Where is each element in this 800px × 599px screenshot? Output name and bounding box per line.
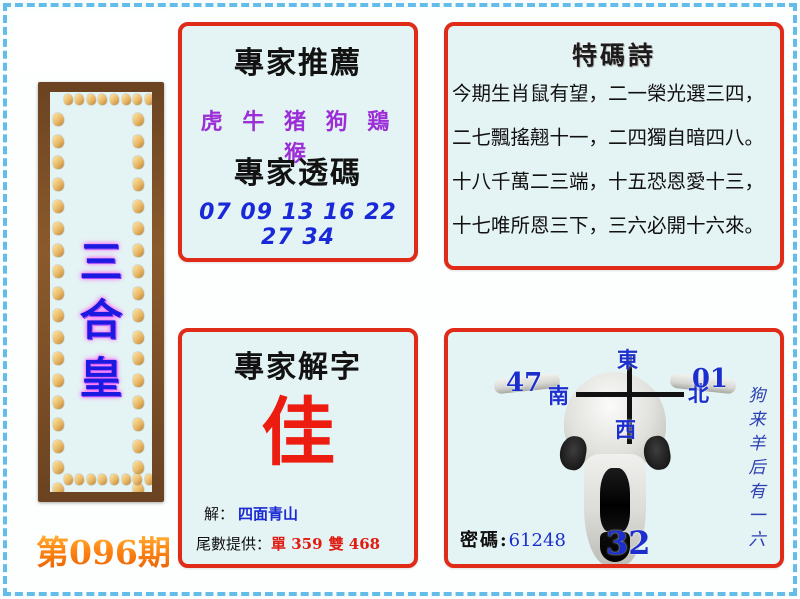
scroll-peg bbox=[87, 94, 96, 105]
scroll-peg bbox=[122, 94, 131, 105]
scroll-peg bbox=[133, 461, 144, 474]
side-text-char-1: 狗 bbox=[746, 384, 768, 408]
scroll-peg bbox=[110, 94, 119, 105]
compass-label-east: 東 bbox=[617, 344, 638, 374]
scroll-peg bbox=[133, 200, 144, 213]
scroll-inner-paper: 三 合 皇 bbox=[50, 92, 152, 492]
skull-compass-panel: 東 南 北 西 47 01 32 狗 来 羊 后 有 一 六 密碼:61248 bbox=[444, 328, 784, 568]
secret-code-label: 密碼: bbox=[460, 530, 509, 551]
tail-numbers-line: 尾數提供：單 359雙 468 bbox=[196, 533, 380, 554]
scroll-peg bbox=[53, 135, 64, 148]
secret-code-line: 密碼:61248 bbox=[460, 526, 566, 552]
skull-side-vertical-text: 狗 来 羊 后 有 一 六 bbox=[746, 384, 768, 552]
expert-recommend-panel: 專家推薦 虎 牛 猪 狗 鶏 猴 專家透碼 07 09 13 16 22 27 … bbox=[178, 22, 418, 262]
poem-body: 今期生肖鼠有望，二一榮光選三四， 二七飄搖翹十一，二四獨自暗四八。 十八千萬二三… bbox=[452, 72, 776, 248]
skull-number-bottom: 32 bbox=[606, 524, 651, 562]
explanation-value: 四面青山 bbox=[238, 505, 298, 523]
poem-line-4: 十七唯所恩三下，三六必開十六來。 bbox=[452, 204, 776, 248]
scroll-peg bbox=[98, 94, 107, 105]
side-text-char-6: 一 bbox=[746, 504, 768, 528]
tail-even: 雙 468 bbox=[329, 535, 381, 553]
scroll-peg bbox=[122, 474, 131, 485]
scroll-peg bbox=[53, 178, 64, 191]
scroll-peg bbox=[133, 418, 144, 431]
scroll-peg bbox=[145, 94, 152, 105]
recommended-numbers: 07 09 13 16 22 27 34 bbox=[186, 200, 410, 250]
scroll-peg bbox=[75, 94, 84, 105]
character-explanation: 解：四面青山 bbox=[204, 503, 298, 524]
explanation-label: 解： bbox=[204, 505, 234, 523]
banner-title-char-3: 皇 bbox=[50, 350, 152, 408]
scroll-peg bbox=[53, 113, 64, 126]
scroll-peg bbox=[64, 94, 73, 105]
scroll-peg bbox=[133, 135, 144, 148]
scroll-peg bbox=[53, 222, 64, 235]
scroll-peg bbox=[133, 440, 144, 453]
compass-label-west: 西 bbox=[615, 414, 636, 444]
side-text-char-7: 六 bbox=[746, 528, 768, 552]
scroll-pegs-top bbox=[62, 94, 152, 110]
scroll-peg bbox=[53, 440, 64, 453]
scroll-peg bbox=[98, 474, 107, 485]
side-text-char-3: 羊 bbox=[746, 432, 768, 456]
big-character: 佳 bbox=[182, 394, 414, 472]
scroll-peg bbox=[75, 474, 84, 485]
scroll-peg bbox=[53, 200, 64, 213]
scroll-peg bbox=[133, 483, 144, 492]
skull-nasal-cavity bbox=[600, 468, 630, 532]
scroll-peg bbox=[133, 156, 144, 169]
scroll-peg bbox=[53, 418, 64, 431]
issue-number: 第096期 bbox=[36, 526, 171, 574]
tail-label: 尾數提供： bbox=[196, 535, 271, 553]
left-banner-column: 三 合 皇 第096期 bbox=[14, 14, 172, 584]
banner-title-char-1: 三 bbox=[50, 234, 152, 292]
recommend-title: 專家推薦 bbox=[182, 38, 414, 82]
skull-number-left: 47 bbox=[506, 368, 542, 398]
scroll-peg bbox=[133, 178, 144, 191]
expert-character-panel: 專家解字 佳 解：四面青山 尾數提供：單 359雙 468 bbox=[178, 328, 418, 568]
character-panel-title: 專家解字 bbox=[182, 342, 414, 386]
scroll-peg bbox=[133, 222, 144, 235]
recommend-subtitle: 專家透碼 bbox=[182, 148, 414, 192]
banner-title-char-2: 合 bbox=[50, 292, 152, 350]
scroll-peg bbox=[53, 461, 64, 474]
poem-line-3: 十八千萬二三端，十五恐恩愛十三， bbox=[452, 160, 776, 204]
scroll-peg bbox=[145, 474, 152, 485]
scroll-peg bbox=[110, 474, 119, 485]
scroll-peg bbox=[133, 113, 144, 126]
poem-title: 特碼詩 bbox=[448, 36, 780, 72]
scroll-pegs-bottom bbox=[62, 474, 152, 490]
poster-root: 三 合 皇 第096期 專家推薦 虎 牛 猪 狗 鶏 猴 專家透碼 07 09 … bbox=[0, 0, 800, 599]
scroll-peg bbox=[53, 156, 64, 169]
side-text-char-4: 后 bbox=[746, 456, 768, 480]
poem-line-1: 今期生肖鼠有望，二一榮光選三四， bbox=[452, 72, 776, 116]
compass-label-south: 南 bbox=[548, 380, 569, 410]
secret-code-value: 61248 bbox=[509, 530, 566, 551]
tail-odd: 單 359 bbox=[271, 535, 323, 553]
side-text-char-5: 有 bbox=[746, 480, 768, 504]
scroll-peg bbox=[133, 94, 142, 105]
skull-number-right: 01 bbox=[692, 364, 728, 394]
poem-line-2: 二七飄搖翹十一，二四獨自暗四八。 bbox=[452, 116, 776, 160]
scroll-peg bbox=[53, 483, 64, 492]
scroll-peg bbox=[133, 474, 142, 485]
scroll-peg bbox=[87, 474, 96, 485]
special-code-poem-panel: 特碼詩 今期生肖鼠有望，二一榮光選三四， 二七飄搖翹十一，二四獨自暗四八。 十八… bbox=[444, 22, 784, 270]
scroll-peg bbox=[64, 474, 73, 485]
banner-title: 三 合 皇 bbox=[50, 234, 152, 408]
blank-white-box bbox=[14, 14, 166, 72]
side-text-char-2: 来 bbox=[746, 408, 768, 432]
scroll-banner: 三 合 皇 bbox=[38, 82, 164, 502]
skull-stage: 東 南 北 西 47 01 32 狗 来 羊 后 有 一 六 密碼:61248 bbox=[448, 332, 780, 564]
